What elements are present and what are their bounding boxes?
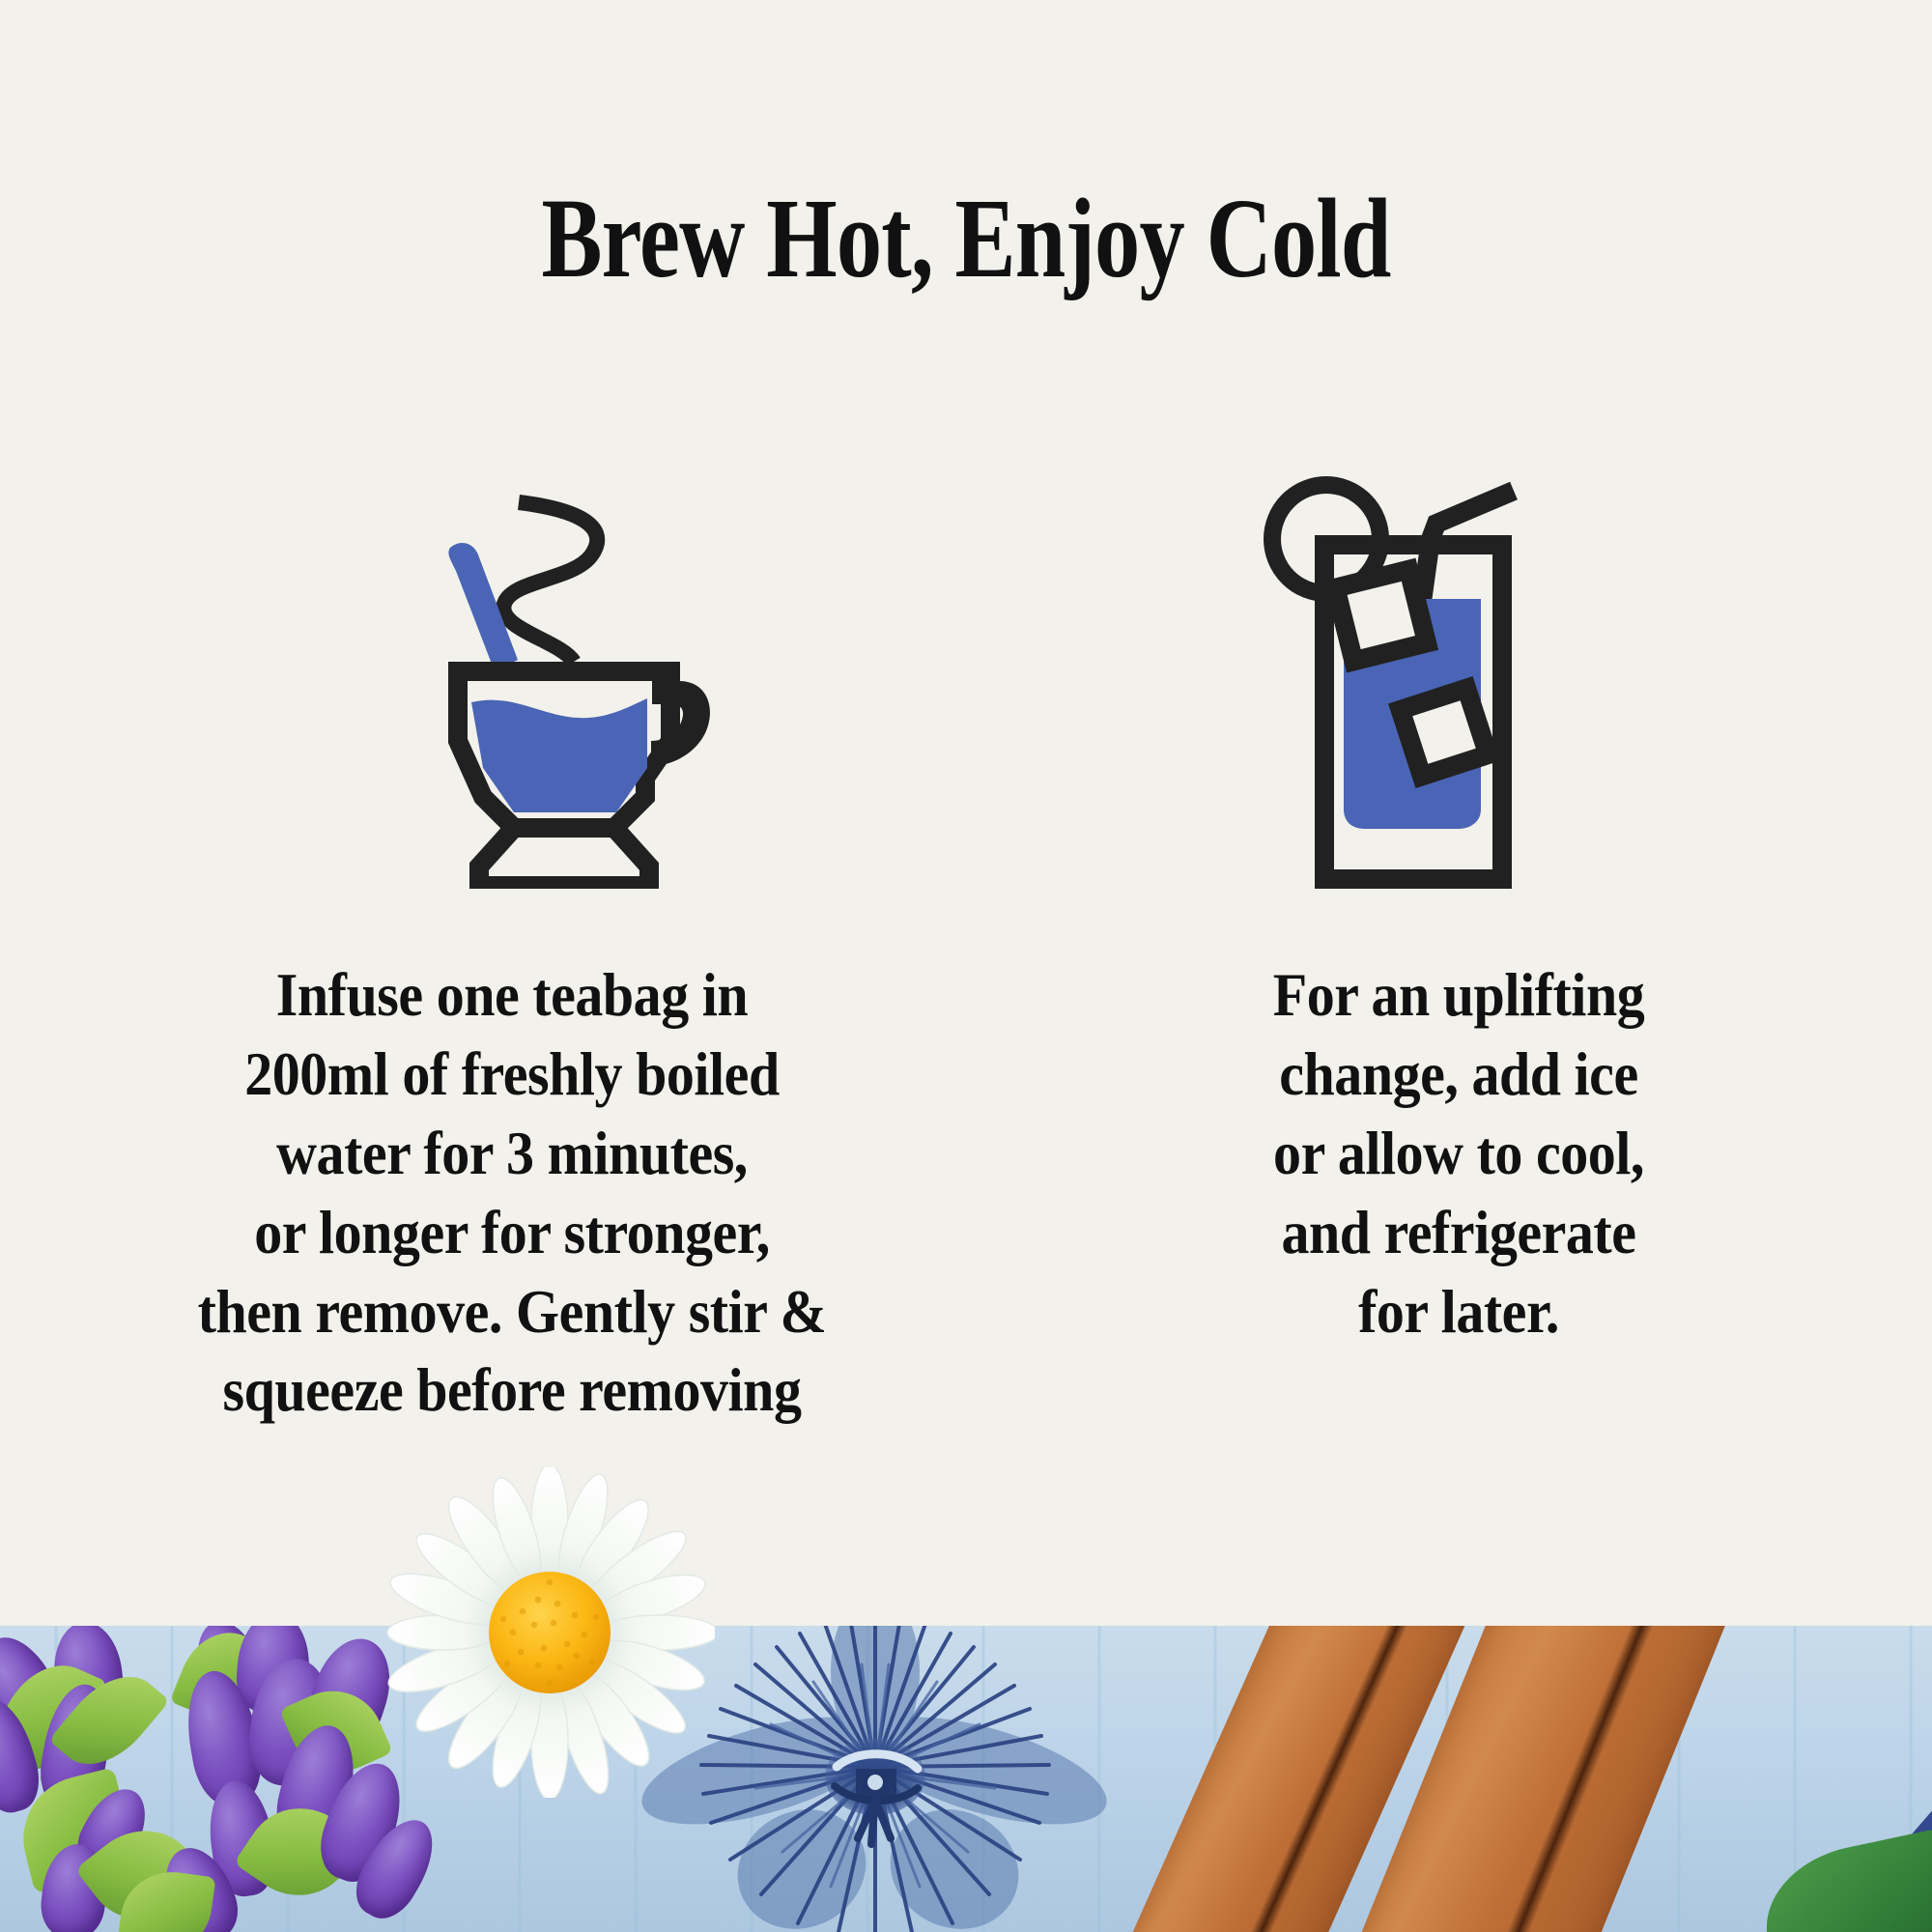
hot-line-3: water for 3 minutes, <box>121 1115 903 1194</box>
cold-icon-slot <box>1043 473 1642 898</box>
cold-line-1: For an uplifting <box>1130 956 1788 1036</box>
hot-icon-slot <box>319 473 918 898</box>
instruction-card: Brew Hot, Enjoy Cold <box>0 0 1932 1932</box>
cold-instructions: For an uplifting change, add ice or allo… <box>1130 956 1788 1351</box>
hot-line-2: 200ml of freshly boiled <box>121 1036 903 1115</box>
chamomile-daisy-flower <box>384 1467 715 1798</box>
icon-row <box>0 473 1932 898</box>
hot-instructions: Infuse one teabag in 200ml of freshly bo… <box>121 956 903 1431</box>
iced-drink-glass-with-straw-icon <box>1251 473 1541 898</box>
page-title: Brew Hot, Enjoy Cold <box>193 182 1739 296</box>
cold-line-2: change, add ice <box>1130 1036 1788 1115</box>
hot-line-6: squeeze before removing <box>121 1351 903 1431</box>
cold-line-4: and refrigerate <box>1130 1194 1788 1273</box>
hot-line-1: Infuse one teabag in <box>121 956 903 1036</box>
hot-line-4: or longer for stronger, <box>121 1194 903 1273</box>
teacup-with-spoon-and-steam-icon <box>444 488 763 889</box>
cold-line-3: or allow to cool, <box>1130 1115 1788 1194</box>
botanical-photo-strip <box>0 1626 1932 1932</box>
cold-line-5: for later. <box>1130 1273 1788 1352</box>
hot-line-5: then remove. Gently stir & <box>121 1273 903 1352</box>
